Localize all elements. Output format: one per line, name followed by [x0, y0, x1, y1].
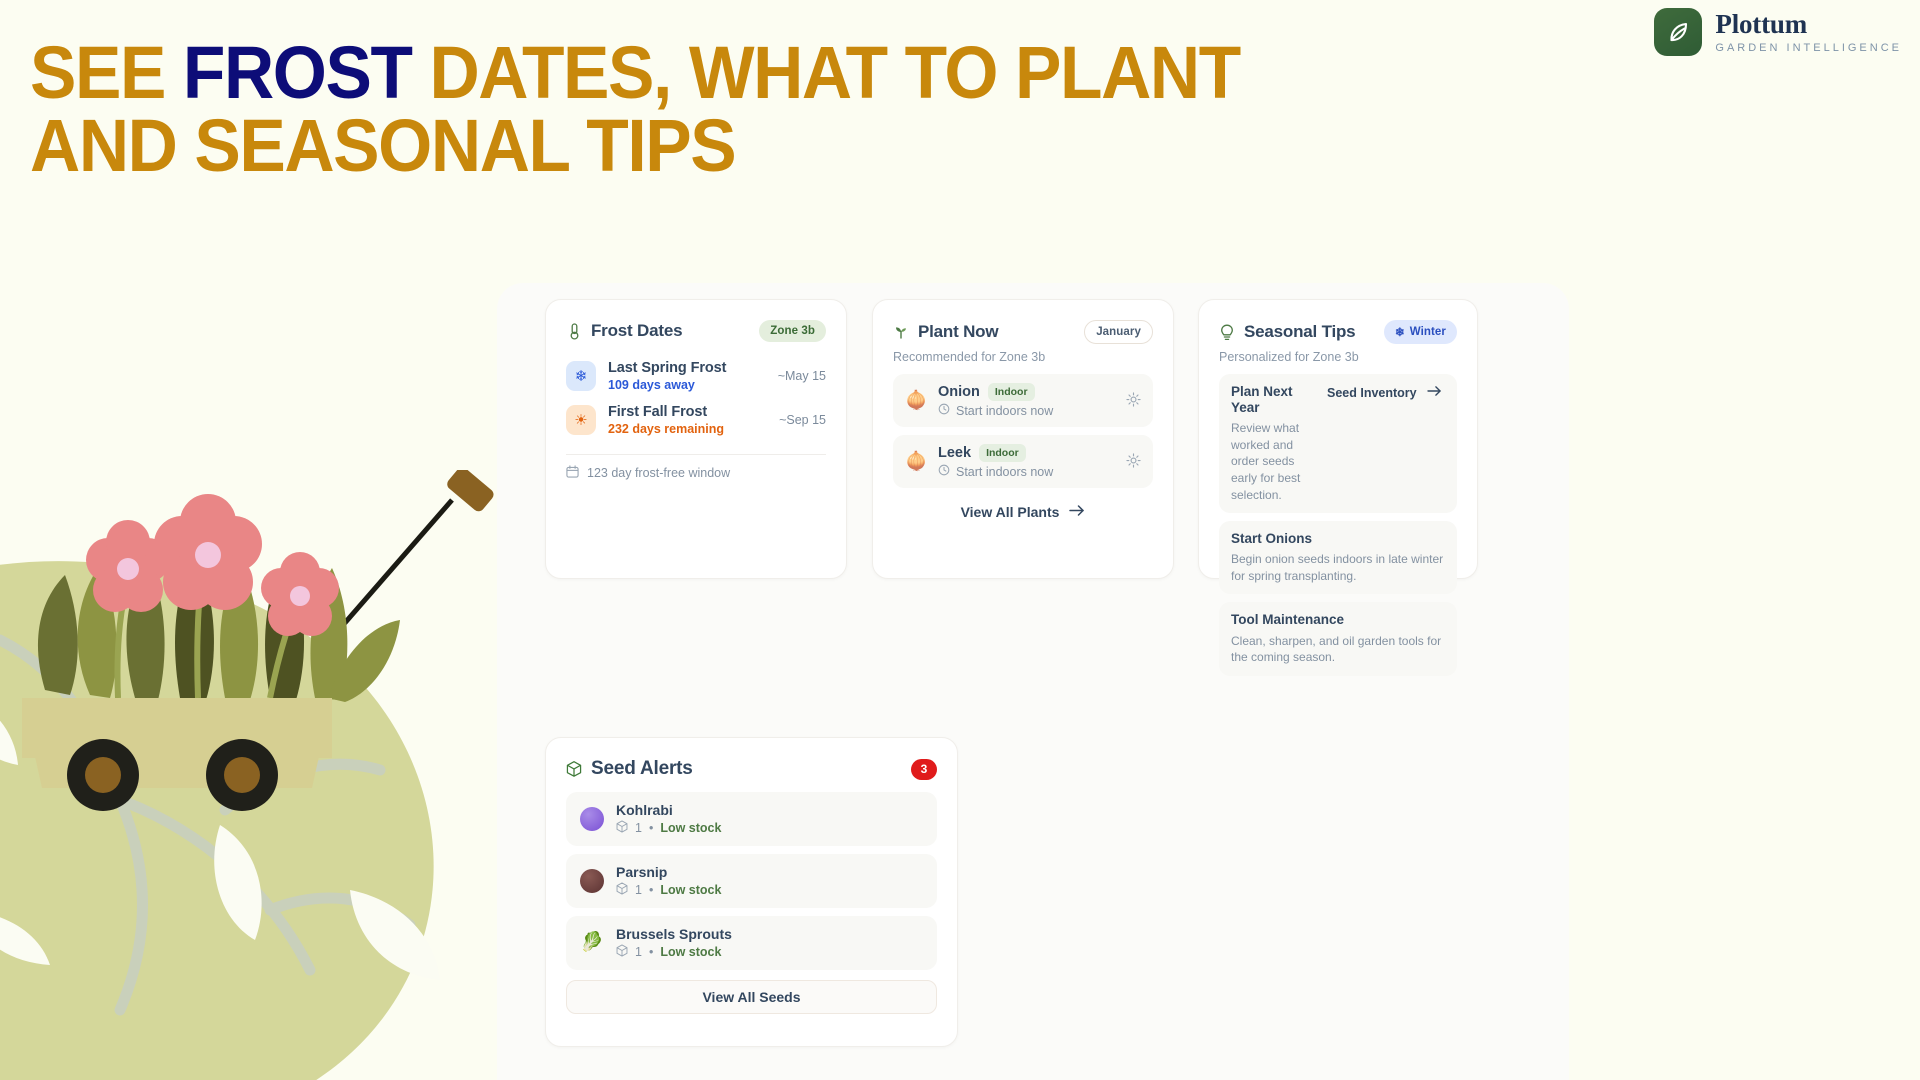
- tip-title: Plan Next Year: [1231, 384, 1317, 416]
- thermometer-icon: [566, 322, 582, 340]
- logo-text: Plottum GARDEN INTELLIGENCE: [1715, 11, 1902, 54]
- seed-name: Parsnip: [616, 864, 721, 880]
- seed-row-parsnip[interactable]: Parsnip 1 • Low stock: [566, 854, 937, 908]
- headline-accent: FROST: [183, 31, 412, 114]
- seed-inventory-link[interactable]: Seed Inventory: [1327, 385, 1442, 400]
- plant-tag: Indoor: [979, 444, 1026, 462]
- package-icon: [616, 944, 628, 960]
- month-badge[interactable]: January: [1084, 320, 1153, 344]
- frost-countdown: 109 days away: [608, 378, 766, 392]
- clock-icon: [938, 403, 950, 418]
- seed-color-swatch: [580, 807, 604, 831]
- alert-count-badge: 3: [911, 759, 937, 780]
- separator-dot: •: [649, 821, 653, 835]
- divider: [566, 454, 826, 455]
- frost-name: First Fall Frost: [608, 404, 767, 420]
- seasonal-tips-card: Seasonal Tips ❄ Winter Personalized for …: [1198, 299, 1478, 579]
- tip-plan-next-year[interactable]: Plan Next Year Review what worked and or…: [1219, 374, 1457, 513]
- brussels-sprouts-icon: 🥬: [580, 931, 604, 955]
- flower-right: [261, 552, 339, 636]
- card-header: Seed Alerts 3: [566, 758, 937, 780]
- frost-free-window: 123 day frost-free window: [566, 465, 826, 481]
- seed-qty: 1: [635, 945, 642, 959]
- leaf-icon: [1664, 18, 1692, 46]
- logo-tagline: GARDEN INTELLIGENCE: [1715, 43, 1902, 54]
- plant-now-card: Plant Now January Recommended for Zone 3…: [872, 299, 1174, 579]
- package-icon: [616, 820, 628, 836]
- page-title: SEE FROST DATES, WHAT TO PLANT AND SEASO…: [30, 36, 1572, 183]
- plant-tag: Indoor: [988, 383, 1035, 401]
- package-icon: [566, 760, 582, 778]
- calendar-icon: [566, 465, 579, 481]
- logo-name: Plottum: [1715, 11, 1902, 38]
- seed-inventory-label: Seed Inventory: [1327, 386, 1417, 400]
- seed-qty: 1: [635, 883, 642, 897]
- card-title: Frost Dates: [591, 321, 682, 341]
- tip-rows: Plan Next Year Review what worked and or…: [1219, 374, 1457, 676]
- seed-status: Low stock: [660, 883, 721, 897]
- flower-center: [154, 494, 262, 610]
- wagon-plants: [38, 494, 400, 702]
- frost-dates-card: Frost Dates Zone 3b ❄ Last Spring Frost …: [545, 299, 847, 579]
- view-all-seeds-button[interactable]: View All Seeds: [566, 980, 937, 1014]
- season-badge: ❄ Winter: [1384, 320, 1457, 344]
- leek-icon: 🧅: [905, 451, 927, 472]
- view-all-plants-label: View All Plants: [961, 504, 1060, 520]
- frost-free-window-label: 123 day frost-free window: [587, 466, 730, 480]
- seed-alerts-card: Seed Alerts 3 Kohlrabi: [545, 737, 958, 1047]
- brand-logo[interactable]: Plottum GARDEN INTELLIGENCE: [1654, 8, 1902, 56]
- lightbulb-icon: [1219, 323, 1235, 341]
- snowflake-icon: ❄: [566, 361, 596, 391]
- frost-date: ~May 15: [778, 369, 826, 383]
- tip-body: Clean, sharpen, and oil garden tools for…: [1231, 633, 1445, 666]
- frost-date: ~Sep 15: [779, 413, 826, 427]
- plant-row-onion[interactable]: 🧅 Onion Indoor: [893, 374, 1153, 427]
- seed-name: Brussels Sprouts: [616, 926, 732, 942]
- seed-row-brussels-sprouts[interactable]: 🥬 Brussels Sprouts 1: [566, 916, 937, 970]
- tip-start-onions[interactable]: Start Onions Begin onion seeds indoors i…: [1219, 521, 1457, 594]
- tip-title: Tool Maintenance: [1231, 612, 1445, 628]
- plant-timing: Start indoors now: [956, 465, 1053, 479]
- seed-status: Low stock: [660, 821, 721, 835]
- headline-line-2: AND SEASONAL TIPS: [30, 104, 735, 187]
- seed-qty: 1: [635, 821, 642, 835]
- plant-name: Onion: [938, 384, 980, 400]
- headline-part-2: DATES, WHAT TO PLANT: [412, 31, 1240, 114]
- monstera-leaf-shape: [0, 561, 440, 1080]
- card-header: Plant Now January: [893, 320, 1153, 344]
- card-title: Plant Now: [918, 322, 998, 342]
- plant-rows: 🧅 Onion Indoor: [893, 374, 1153, 488]
- frost-row-fall[interactable]: ☀ First Fall Frost 232 days remaining ~S…: [566, 398, 826, 442]
- card-subtitle: Personalized for Zone 3b: [1219, 350, 1457, 364]
- snowflake-icon: ❄: [1395, 325, 1405, 339]
- page-root: SEE FROST DATES, WHAT TO PLANT AND SEASO…: [0, 0, 1920, 1080]
- arrow-right-icon: [1427, 385, 1442, 400]
- frost-name: Last Spring Frost: [608, 360, 766, 376]
- onion-icon: 🧅: [905, 390, 927, 411]
- frost-rows: ❄ Last Spring Frost 109 days away ~May 1…: [566, 354, 826, 442]
- tip-body: Review what worked and order seeds early…: [1231, 420, 1317, 503]
- card-title: Seasonal Tips: [1244, 322, 1355, 342]
- seedling-icon: [893, 323, 909, 341]
- view-all-plants-link[interactable]: View All Plants: [893, 504, 1153, 520]
- sun-icon: ☀: [566, 405, 596, 435]
- plant-row-leek[interactable]: 🧅 Leek Indoor: [893, 435, 1153, 488]
- card-subtitle: Recommended for Zone 3b: [893, 350, 1153, 364]
- separator-dot: •: [649, 883, 653, 897]
- frost-countdown: 232 days remaining: [608, 422, 767, 436]
- season-badge-label: Winter: [1410, 326, 1446, 338]
- seed-row-kohlrabi[interactable]: Kohlrabi 1 • Low stock: [566, 792, 937, 846]
- frost-row-spring[interactable]: ❄ Last Spring Frost 109 days away ~May 1…: [566, 354, 826, 398]
- wagon-body: [22, 698, 332, 811]
- sun-icon: [1126, 392, 1141, 410]
- package-icon: [616, 882, 628, 898]
- seed-rows: Kohlrabi 1 • Low stock: [566, 792, 937, 970]
- separator-dot: •: [649, 945, 653, 959]
- logo-mark: [1654, 8, 1702, 56]
- headline-part-1: SEE: [30, 31, 183, 114]
- flower-left: [86, 520, 170, 612]
- seed-name: Kohlrabi: [616, 802, 721, 818]
- status-badge-zone: Zone 3b: [759, 320, 826, 342]
- card-header: Seasonal Tips ❄ Winter: [1219, 320, 1457, 344]
- card-title: Seed Alerts: [591, 758, 693, 780]
- seed-color-swatch: [580, 869, 604, 893]
- arrow-right-icon: [1069, 504, 1085, 520]
- plant-name: Leek: [938, 445, 971, 461]
- wagon-handle: [330, 470, 496, 640]
- clock-icon: [938, 464, 950, 479]
- seed-status: Low stock: [660, 945, 721, 959]
- tip-body: Begin onion seeds indoors in late winter…: [1231, 551, 1445, 584]
- sun-icon: [1126, 453, 1141, 471]
- plant-timing: Start indoors now: [956, 404, 1053, 418]
- view-all-seeds-label: View All Seeds: [702, 989, 800, 1005]
- card-header: Frost Dates Zone 3b: [566, 320, 826, 342]
- tip-tool-maintenance[interactable]: Tool Maintenance Clean, sharpen, and oil…: [1219, 602, 1457, 675]
- tip-title: Start Onions: [1231, 531, 1445, 547]
